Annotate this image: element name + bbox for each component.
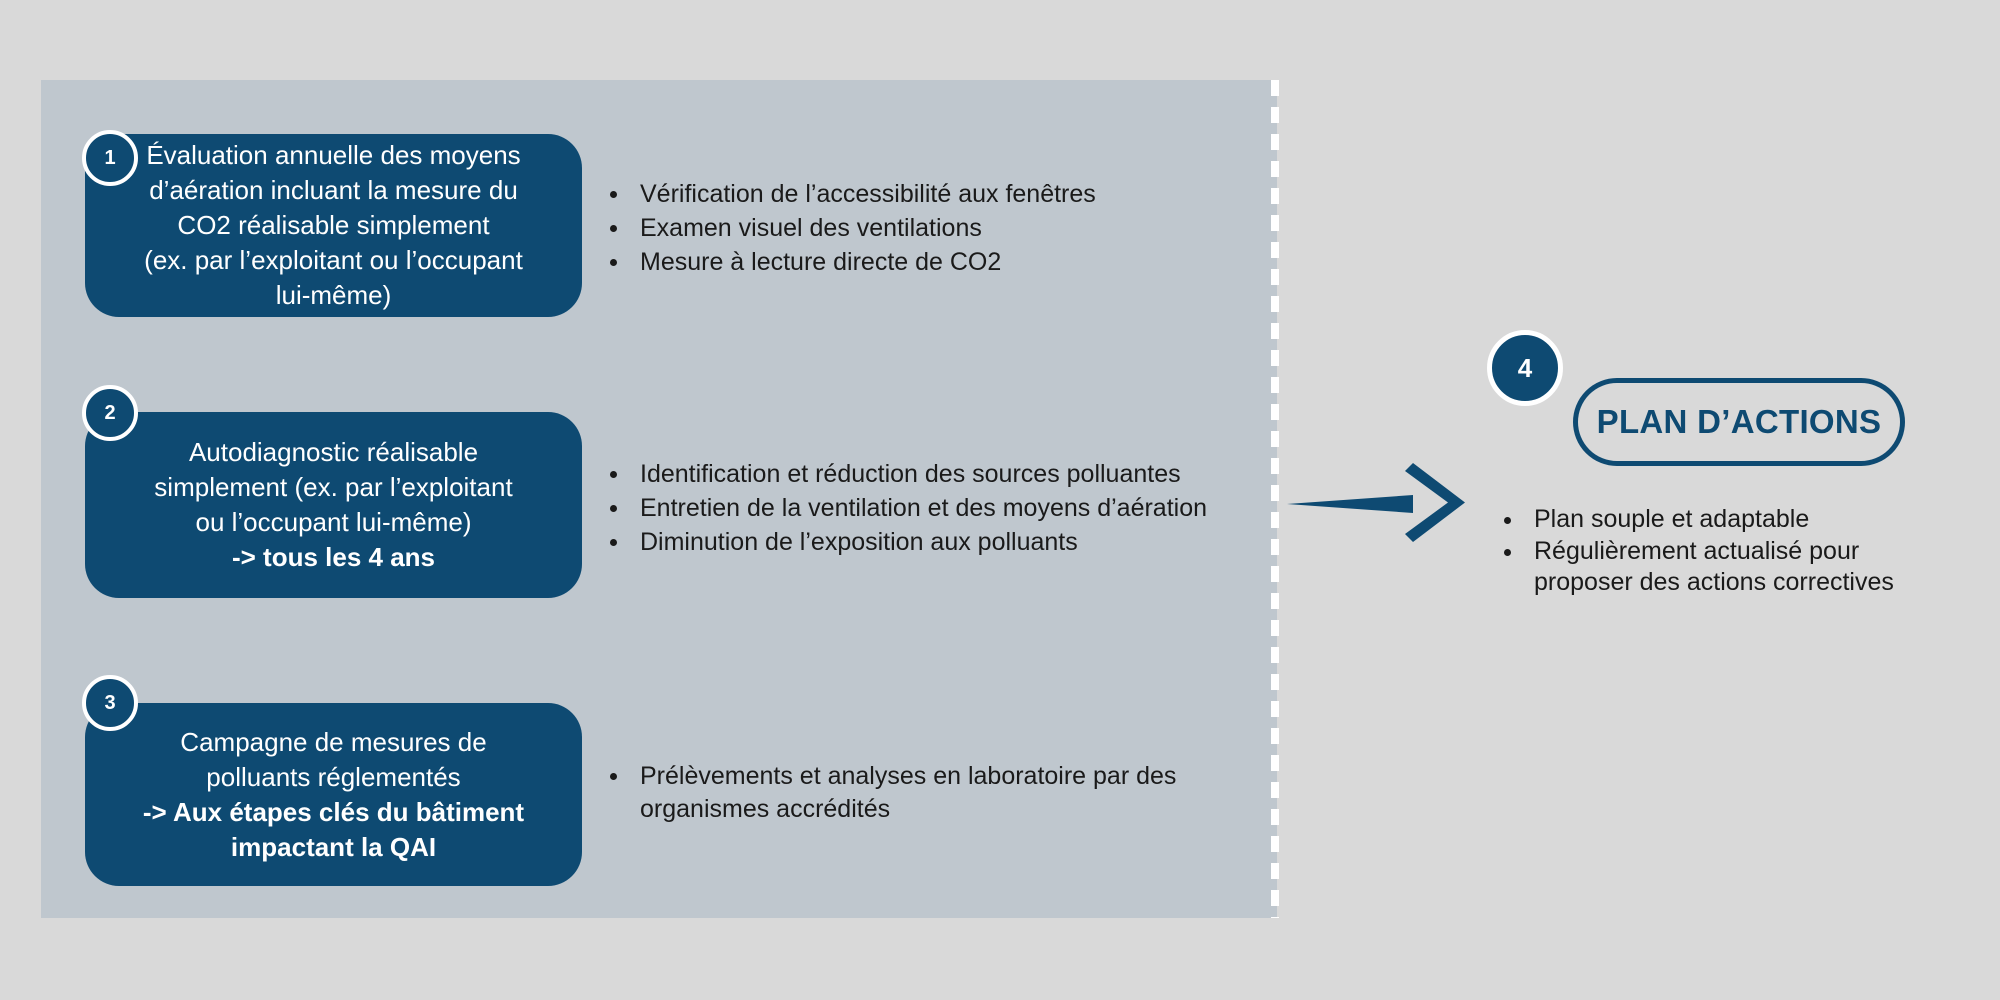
- step-2-bullet-list: Identification et réduction des sources …: [606, 458, 1246, 560]
- step-box-1-line-4: (ex. par l’exploitant ou l’occupant: [144, 243, 523, 278]
- step-box-3-line-3: -> Aux étapes clés du bâtiment: [143, 795, 524, 830]
- list-item: Identification et réduction des sources …: [606, 458, 1246, 491]
- step-badge-4-label: 4: [1518, 353, 1532, 384]
- bullet-text: Entretien de la ventilation et des moyen…: [640, 494, 1207, 522]
- plan-actions-title: PLAN D’ACTIONS: [1597, 403, 1882, 441]
- step-1-bullet-list: Vérification de l’accessibilité aux fenê…: [606, 178, 1226, 280]
- bullet-text: Plan souple et adaptable: [1534, 505, 1809, 533]
- bullet-dot-icon: [610, 471, 617, 478]
- list-item: Entretien de la ventilation et des moyen…: [606, 492, 1246, 525]
- step-box-1-line-3: CO2 réalisable simplement: [177, 208, 489, 243]
- step-badge-1[interactable]: 1: [82, 130, 138, 186]
- step-badge-4[interactable]: 4: [1487, 330, 1563, 406]
- bullet-dot-icon: [1504, 549, 1511, 556]
- list-item: Plan souple et adaptable: [1500, 504, 1930, 535]
- step-badge-3-label: 3: [104, 692, 115, 715]
- step-box-3-line-1: Campagne de mesures de: [180, 725, 486, 760]
- bullet-text: Vérification de l’accessibilité aux fenê…: [640, 180, 1096, 208]
- list-item: Examen visuel des ventilations: [606, 212, 1226, 245]
- step-badge-2-label: 2: [104, 402, 115, 425]
- dashed-divider: [1271, 80, 1279, 918]
- bullet-text: Diminution de l’exposition aux polluants: [640, 528, 1078, 556]
- bullet-dot-icon: [1504, 517, 1511, 524]
- bullet-text: Prélèvements et analyses en laboratoire …: [640, 762, 1176, 823]
- bullet-dot-icon: [610, 505, 617, 512]
- step-box-2[interactable]: Autodiagnostic réalisable simplement (ex…: [85, 412, 582, 598]
- step-badge-2[interactable]: 2: [82, 385, 138, 441]
- bullet-text: Mesure à lecture directe de CO2: [640, 248, 1001, 276]
- step-box-3[interactable]: Campagne de mesures de polluants régleme…: [85, 703, 582, 886]
- diagram-canvas: 1 Évaluation annuelle des moyens d’aérat…: [0, 0, 2000, 1000]
- bullet-dot-icon: [610, 225, 617, 232]
- bullet-dot-icon: [610, 191, 617, 198]
- list-item: Régulièrement actualisé pour proposer de…: [1500, 536, 1930, 598]
- right-arrow-icon: [1285, 455, 1475, 550]
- step-box-3-line-2: polluants réglementés: [206, 760, 460, 795]
- list-item: Vérification de l’accessibilité aux fenê…: [606, 178, 1226, 211]
- step-box-2-line-4: -> tous les 4 ans: [232, 540, 435, 575]
- bullet-text: Régulièrement actualisé pour proposer de…: [1534, 537, 1894, 596]
- list-item: Prélèvements et analyses en laboratoire …: [606, 760, 1196, 826]
- step-box-1[interactable]: Évaluation annuelle des moyens d’aératio…: [85, 134, 582, 317]
- plan-actions-box[interactable]: PLAN D’ACTIONS: [1573, 378, 1905, 466]
- step-box-1-line-2: d’aération incluant la mesure du: [149, 173, 518, 208]
- bullet-dot-icon: [610, 539, 617, 546]
- bullet-dot-icon: [610, 259, 617, 266]
- step-badge-3[interactable]: 3: [82, 675, 138, 731]
- step-box-2-line-3: ou l’occupant lui-même): [195, 505, 471, 540]
- step-3-bullet-list: Prélèvements et analyses en laboratoire …: [606, 760, 1196, 827]
- bullet-text: Examen visuel des ventilations: [640, 214, 982, 242]
- list-item: Mesure à lecture directe de CO2: [606, 246, 1226, 279]
- step-badge-1-label: 1: [104, 147, 115, 170]
- bullet-text: Identification et réduction des sources …: [640, 460, 1181, 488]
- plan-actions-bullet-list: Plan souple et adaptable Régulièrement a…: [1500, 504, 1930, 599]
- step-box-3-line-4: impactant la QAI: [231, 830, 436, 865]
- step-box-1-line-5: lui-même): [276, 278, 392, 313]
- step-box-1-line-1: Évaluation annuelle des moyens: [146, 138, 520, 173]
- bullet-dot-icon: [610, 773, 617, 780]
- step-box-2-line-2: simplement (ex. par l’exploitant: [154, 470, 512, 505]
- list-item: Diminution de l’exposition aux polluants: [606, 526, 1246, 559]
- step-box-2-line-1: Autodiagnostic réalisable: [189, 435, 478, 470]
